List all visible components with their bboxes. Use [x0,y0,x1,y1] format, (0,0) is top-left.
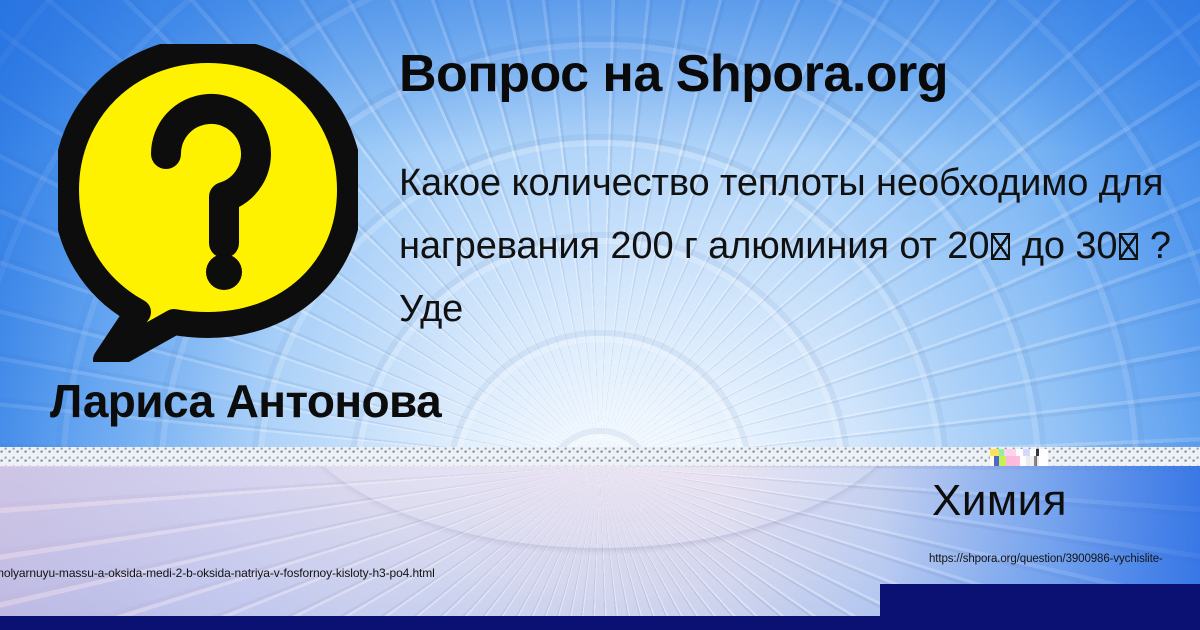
related-question-url[interactable]: molyarnuyu-massu-a-oksida-medi-2-b-oksid… [0,566,435,580]
author-name: Лариса Антонова [50,372,470,430]
question-text-segment-2: до 30 [1011,225,1117,267]
question-url[interactable]: https://shpora.org/question/3900986-vych… [929,553,1163,565]
page-title: Вопрос на Shpora.org [399,46,948,102]
subject-label: Химия [932,476,1067,526]
question-speech-bubble-icon [58,44,358,362]
missing-glyph-box-icon [1119,233,1139,260]
missing-glyph-box-icon [991,233,1011,260]
navy-bar-bottom [0,616,1200,630]
pixel-noise-artifact-secondary [990,456,1042,466]
lower-pink-gradient [0,466,696,630]
question-text: Какое количество теплоты необходимо для … [399,152,1189,341]
share-card: Вопрос на Shpora.org Какое количество те… [0,0,1200,630]
